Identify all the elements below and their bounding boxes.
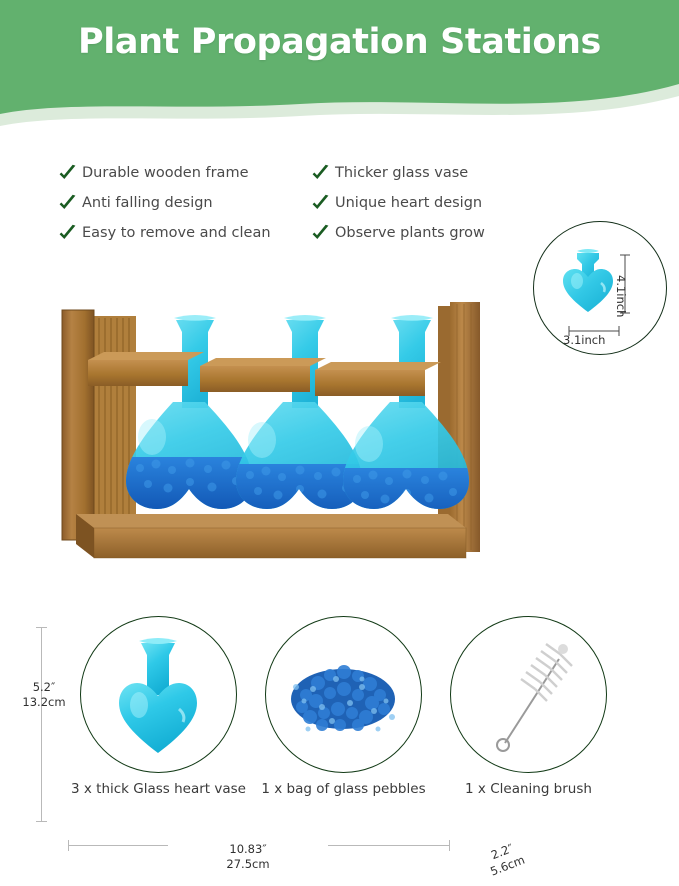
feature-label: Observe plants grow bbox=[335, 225, 485, 241]
accessory-label: 1 x Cleaning brush bbox=[436, 781, 621, 797]
page-title: Plant Propagation Stations bbox=[0, 22, 679, 62]
depth-dimension-label: 2.2″ 5.6cm bbox=[467, 832, 543, 885]
check-icon bbox=[311, 164, 330, 183]
feature-list: Durable wooden frame Thicker glass vase … bbox=[58, 158, 528, 250]
accessory-circle bbox=[450, 616, 607, 773]
feature-item: Thicker glass vase bbox=[311, 158, 528, 188]
feature-item: Durable wooden frame bbox=[58, 158, 311, 188]
feature-label: Thicker glass vase bbox=[335, 165, 468, 181]
accessory-list: 3 x thick Glass heart vase bbox=[0, 616, 679, 809]
accessory-label: 3 x thick Glass heart vase bbox=[66, 781, 251, 797]
feature-item: Observe plants grow bbox=[311, 218, 528, 248]
glass-pebbles-icon bbox=[266, 617, 421, 772]
feature-item: Anti falling design bbox=[58, 188, 311, 218]
feature-item: Easy to remove and clean bbox=[58, 218, 311, 248]
feature-label: Unique heart design bbox=[335, 195, 482, 211]
accessory-item: 1 x bag of glass pebbles bbox=[251, 616, 436, 797]
feature-item: Unique heart design bbox=[311, 188, 528, 218]
propagation-station-icon bbox=[0, 292, 679, 602]
check-icon bbox=[311, 194, 330, 213]
check-icon bbox=[311, 224, 330, 243]
check-icon bbox=[58, 164, 77, 183]
check-icon bbox=[58, 224, 77, 243]
header-wave-graphic bbox=[0, 0, 679, 140]
cleaning-brush-icon bbox=[451, 617, 606, 772]
feature-label: Anti falling design bbox=[82, 195, 213, 211]
accessory-circle bbox=[80, 616, 237, 773]
width-cm: 27.5cm bbox=[168, 857, 328, 872]
feature-label: Durable wooden frame bbox=[82, 165, 249, 181]
accessory-item: 3 x thick Glass heart vase bbox=[66, 616, 251, 797]
product-image: 5.2″ 13.2cm 10.83″ 27.5cm 2.2″ 5.6cm bbox=[0, 292, 679, 602]
feature-label: Easy to remove and clean bbox=[82, 225, 271, 241]
accessory-circle bbox=[265, 616, 422, 773]
heart-vase-icon bbox=[81, 617, 236, 772]
check-icon bbox=[58, 194, 77, 213]
width-inch: 10.83″ bbox=[168, 842, 328, 857]
width-dimension-label: 10.83″ 27.5cm bbox=[168, 842, 328, 872]
header-banner: Plant Propagation Stations bbox=[0, 0, 679, 140]
accessory-item: 1 x Cleaning brush bbox=[436, 616, 621, 797]
accessory-label: 1 x bag of glass pebbles bbox=[251, 781, 436, 797]
